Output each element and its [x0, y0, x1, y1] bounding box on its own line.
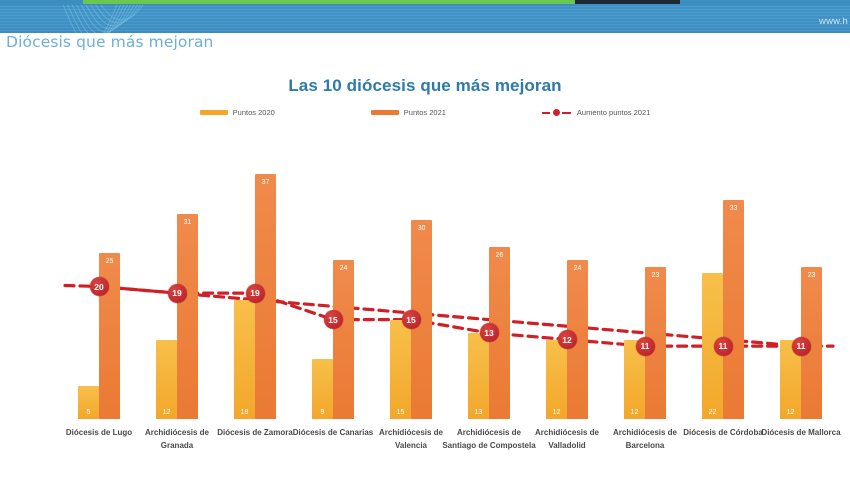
chart-plot-area: 5251231183792415301326122412232233122320…: [0, 132, 850, 419]
bar-puntos-2020[interactable]: 15: [390, 320, 411, 419]
bar-value-label: 12: [780, 409, 801, 416]
bar-value-label: 24: [333, 265, 354, 272]
banner-url-text: www.h: [819, 16, 848, 27]
bar-group: 1231: [140, 132, 214, 419]
bar-puntos-2020[interactable]: 13: [468, 333, 489, 419]
bar-value-label: 33: [723, 205, 744, 212]
aumento-point-marker[interactable]: 11: [792, 337, 811, 356]
aumento-point-marker[interactable]: 19: [168, 284, 187, 303]
x-axis-label: Diócesis de Mallorca: [753, 427, 849, 440]
bar-value-label: 37: [255, 179, 276, 186]
bar-group: 1530: [374, 132, 448, 419]
aumento-point-marker[interactable]: 11: [636, 337, 655, 356]
legend-dashed-line-icon: [542, 109, 572, 116]
bar-value-label: 9: [312, 409, 333, 416]
chart-title: Las 10 diócesis que más mejoran: [0, 76, 850, 96]
bar-value-label: 22: [702, 409, 723, 416]
bar-value-label: 24: [567, 265, 588, 272]
legend-label: Puntos 2021: [404, 108, 446, 117]
bar-puntos-2020[interactable]: 12: [546, 340, 567, 420]
bar-puntos-2020[interactable]: 12: [156, 340, 177, 420]
bar-group: 1223: [608, 132, 682, 419]
bar-value-label: 13: [468, 409, 489, 416]
bar-value-label: 15: [390, 409, 411, 416]
bar-value-label: 5: [78, 409, 99, 416]
bar-group: 1224: [530, 132, 604, 419]
bar-puntos-2020[interactable]: 5: [78, 386, 99, 419]
bar-group: 1326: [452, 132, 526, 419]
video-progress-buffered: [575, 0, 680, 4]
bar-group: 1837: [218, 132, 292, 419]
aumento-point-marker[interactable]: 11: [714, 337, 733, 356]
chart-panel: Las 10 diócesis que más mejoran Puntos 2…: [0, 60, 850, 478]
bar-value-label: 26: [489, 252, 510, 259]
bar-value-label: 18: [234, 409, 255, 416]
legend-label: Aumento puntos 2021: [577, 108, 650, 117]
slide-subtitle: . Diócesis que más mejoran: [0, 33, 213, 51]
bar-value-label: 23: [801, 272, 822, 279]
aumento-point-marker[interactable]: 15: [402, 310, 421, 329]
legend-swatch-icon: [371, 110, 399, 115]
aumento-point-marker[interactable]: 20: [90, 277, 109, 296]
bar-value-label: 23: [645, 272, 666, 279]
bar-value-label: 12: [156, 409, 177, 416]
aumento-point-marker[interactable]: 15: [324, 310, 343, 329]
bar-value-label: 31: [177, 219, 198, 226]
legend-swatch-icon: [200, 110, 228, 115]
legend-item-aumento-puntos-2021[interactable]: Aumento puntos 2021: [542, 108, 650, 117]
bar-value-label: 25: [99, 258, 120, 265]
bar-puntos-2021[interactable]: 31: [177, 214, 198, 419]
legend-item-puntos-2020[interactable]: Puntos 2020: [200, 108, 275, 117]
bar-group: 1223: [764, 132, 838, 419]
aumento-point-marker[interactable]: 12: [558, 330, 577, 349]
video-progress-bar[interactable]: [0, 0, 850, 5]
aumento-point-marker[interactable]: 13: [480, 323, 499, 342]
bar-group: 924: [296, 132, 370, 419]
bar-puntos-2020[interactable]: 18: [234, 300, 255, 419]
bar-value-label: 30: [411, 225, 432, 232]
legend-label: Puntos 2020: [233, 108, 275, 117]
aumento-point-marker[interactable]: 19: [246, 284, 265, 303]
bar-value-label: 12: [546, 409, 567, 416]
bar-group: 2233: [686, 132, 760, 419]
bar-puntos-2020[interactable]: 9: [312, 359, 333, 419]
bar-group: 525: [62, 132, 136, 419]
bar-puntos-2021[interactable]: 24: [333, 260, 354, 419]
video-progress-played: [83, 0, 575, 4]
bar-value-label: 12: [624, 409, 645, 416]
chart-legend: Puntos 2020 Puntos 2021 Aumento puntos 2…: [0, 108, 850, 117]
legend-item-puntos-2021[interactable]: Puntos 2021: [371, 108, 446, 117]
bar-puntos-2021[interactable]: 33: [723, 200, 744, 419]
chart-x-axis: Diócesis de LugoArchidiócesis de Granada…: [0, 419, 850, 474]
